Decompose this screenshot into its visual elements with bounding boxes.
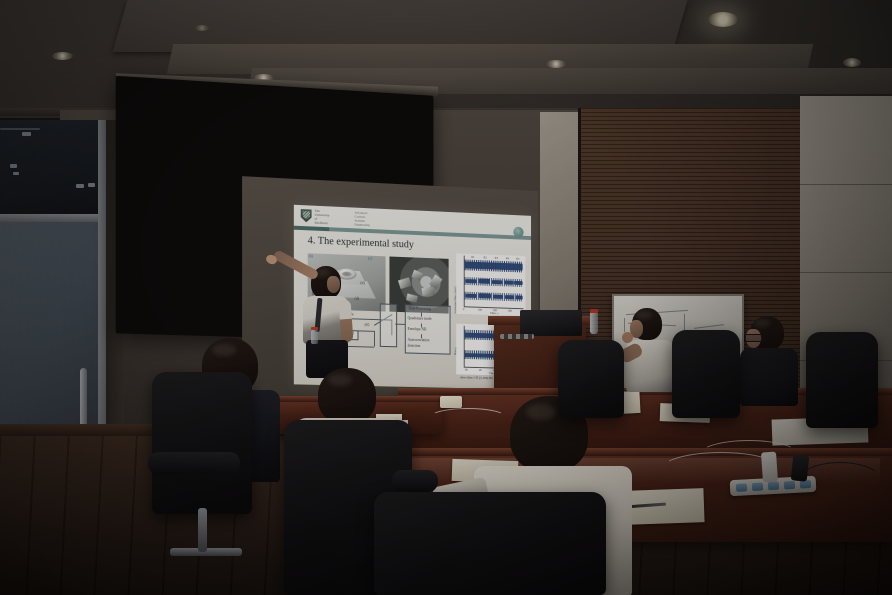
- slide-university-text: The University of Sheffield.: [315, 210, 330, 226]
- burst-label-r4: R4: [506, 256, 509, 260]
- slide-department-text: Advanced Controls Systems Engineering: [355, 212, 370, 228]
- processing-step-1: Quadrature mode: [408, 316, 432, 321]
- water-bottle-lectern: [590, 312, 598, 334]
- presenter-left-arm: [339, 300, 354, 343]
- attendee-4-hand-on-chin: [622, 332, 633, 343]
- attendee-5-torso: [740, 348, 798, 406]
- ceiling-light-1: [52, 52, 73, 60]
- adapter-block-left: [440, 396, 462, 408]
- top-xtick-300: 300: [508, 309, 512, 313]
- burst-label-r2: R2: [483, 255, 486, 259]
- processing-step-3: Autocorrelation: [408, 338, 430, 343]
- presenter-face: [327, 276, 340, 293]
- top-xtick-100: 100: [478, 308, 482, 312]
- water-bottle-desk: [311, 330, 318, 344]
- processing-step-4: detection: [408, 344, 421, 348]
- acceleration-plot-top: R1 R2 R3 R4 R5 0 100 200 300 400 Time, s: [456, 253, 525, 316]
- top-xtick-0: 0: [463, 307, 464, 311]
- attendee-5-hair-sheen: [754, 319, 770, 327]
- chair-center-armrest: [392, 470, 438, 492]
- data-processing-title: Data Processing: [409, 306, 431, 311]
- lectern-monitor: [520, 310, 582, 336]
- chair-right-1[interactable]: [672, 330, 740, 418]
- spindle-column: [380, 303, 397, 347]
- projection-screen: The University of Sheffield. Advanced Co…: [116, 76, 434, 343]
- cable-white-2: [700, 440, 798, 468]
- slide-number-badge: 7: [513, 227, 523, 238]
- water-bottle-cap: [590, 309, 598, 313]
- chair-podium-side[interactable]: [558, 340, 624, 418]
- attendee-3-hair-sheen: [526, 404, 556, 420]
- processing-step-2: Envelope NB: [408, 327, 427, 331]
- filter-caption: after filter f ∈ [3,100] Hz: [460, 375, 493, 380]
- top-ylabel: Acceleration Plate y (m/s²): [454, 286, 457, 313]
- power-strip-socket-3[interactable]: [768, 482, 779, 491]
- burst-label-r3: R3: [495, 256, 498, 260]
- cad-label-b: (b): [309, 254, 313, 258]
- lectern-control-buttons[interactable]: [500, 334, 534, 339]
- slide-accent-band-dark: [294, 226, 329, 232]
- ceiling-light-7: [195, 25, 209, 31]
- top-xlabel: Time, s: [490, 311, 498, 315]
- ceiling-light-5: [546, 60, 566, 68]
- bottom-xtick-40: 40: [479, 368, 482, 372]
- seminar-room-photo: The University of Sheffield. Advanced Co…: [0, 0, 892, 595]
- burst-label-r5: R5: [516, 257, 519, 261]
- ceiling-light-4: [708, 12, 738, 27]
- chair-right-2[interactable]: [806, 332, 878, 428]
- cable-black-1: [796, 462, 884, 504]
- power-strip-socket-4[interactable]: [784, 481, 795, 490]
- attendee-5: [736, 316, 814, 412]
- attendee-2-hair-sheen: [328, 374, 352, 386]
- chair-foreground[interactable]: [374, 492, 606, 595]
- slide-title: 4. The experimental study: [308, 235, 414, 250]
- attendee-4-hair-sheen: [636, 311, 652, 319]
- bottom-ylabel: Plate y: [454, 347, 457, 355]
- chair-left-back[interactable]: [152, 372, 252, 514]
- bottom-xtick-38: 38: [465, 368, 468, 372]
- attendee-1-hair-sheen: [212, 344, 236, 356]
- burst-label-r1: R1: [471, 255, 474, 259]
- ceiling-light-6: [843, 58, 861, 67]
- water-bottle-desk-cap: [311, 327, 318, 330]
- slide-number-text: 7: [513, 227, 523, 238]
- photo-label-c: (c): [368, 257, 372, 261]
- glasses-icon: [744, 334, 763, 342]
- chair-left-column: [198, 508, 207, 552]
- chair-left-armrest: [148, 452, 240, 474]
